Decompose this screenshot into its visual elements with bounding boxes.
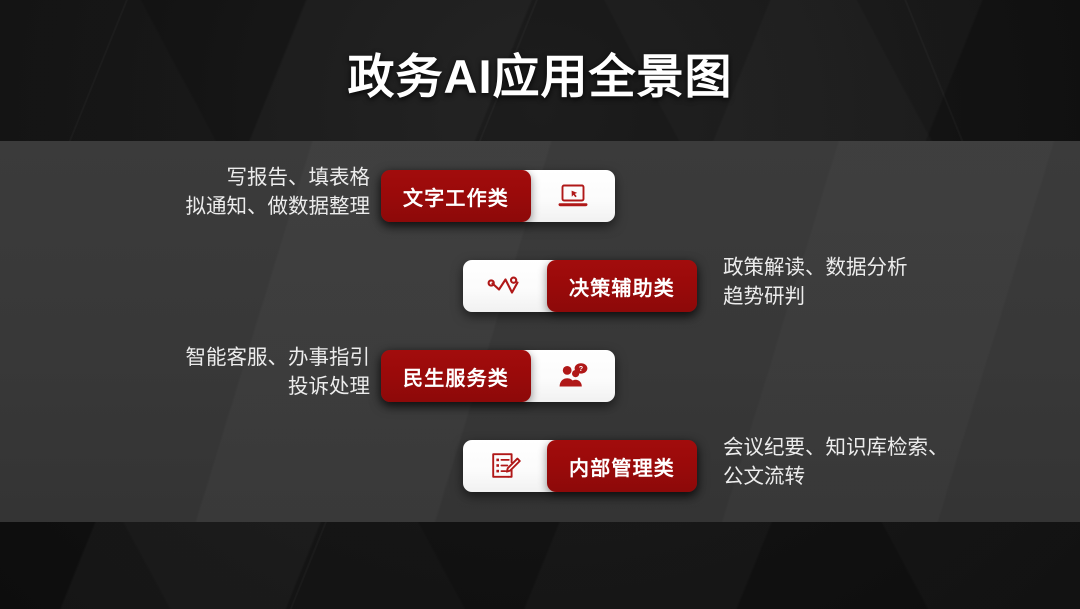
- laptop-cursor-icon: [521, 170, 615, 222]
- row-text-work-description: 写报告、填表格 拟通知、做数据整理: [135, 163, 370, 221]
- row-internal-management-description: 会议纪要、知识库检索、 公文流转: [723, 433, 1003, 491]
- row-decision-support: 决策辅助类 政策解读、数据分析 趋势研判: [0, 258, 1080, 314]
- badge-label-text-work[interactable]: 文字工作类: [381, 170, 531, 222]
- badge-label-decision-support[interactable]: 决策辅助类: [547, 260, 697, 312]
- trend-line-chart-icon: [463, 260, 557, 312]
- slide-canvas: 政务AI应用全景图 写报告、填表格 拟通知、做数据整理 文字工作类: [0, 0, 1080, 609]
- page-title: 政务AI应用全景图: [0, 38, 1080, 107]
- badge-label-public-service[interactable]: 民生服务类: [381, 350, 531, 402]
- desc-line: 趋势研判: [723, 282, 983, 311]
- badge-label-internal-management[interactable]: 内部管理类: [547, 440, 697, 492]
- badge-internal-management[interactable]: 内部管理类: [463, 440, 697, 492]
- desc-line: 投诉处理: [135, 372, 370, 401]
- row-decision-support-description: 政策解读、数据分析 趋势研判: [723, 253, 983, 311]
- desc-line: 会议纪要、知识库检索、: [723, 433, 1003, 462]
- desc-line: 智能客服、办事指引: [135, 343, 370, 372]
- people-question-icon: ?: [521, 350, 615, 402]
- desc-line: 拟通知、做数据整理: [135, 192, 370, 221]
- checklist-pencil-icon: [463, 440, 557, 492]
- slide-header: 政务AI应用全景图: [0, 0, 1080, 141]
- badge-public-service[interactable]: 民生服务类 ?: [381, 350, 615, 402]
- row-text-work: 写报告、填表格 拟通知、做数据整理 文字工作类: [0, 168, 1080, 224]
- desc-line: 政策解读、数据分析: [723, 253, 983, 282]
- badge-decision-support[interactable]: 决策辅助类: [463, 260, 697, 312]
- svg-text:?: ?: [579, 364, 583, 373]
- desc-line: 写报告、填表格: [135, 163, 370, 192]
- row-public-service: 智能客服、办事指引 投诉处理 民生服务类 ?: [0, 348, 1080, 404]
- badge-text-work[interactable]: 文字工作类: [381, 170, 615, 222]
- desc-line: 公文流转: [723, 462, 1003, 491]
- row-internal-management: 内部管理类 会议纪要、知识库检索、 公文流转: [0, 438, 1080, 494]
- row-public-service-description: 智能客服、办事指引 投诉处理: [135, 343, 370, 401]
